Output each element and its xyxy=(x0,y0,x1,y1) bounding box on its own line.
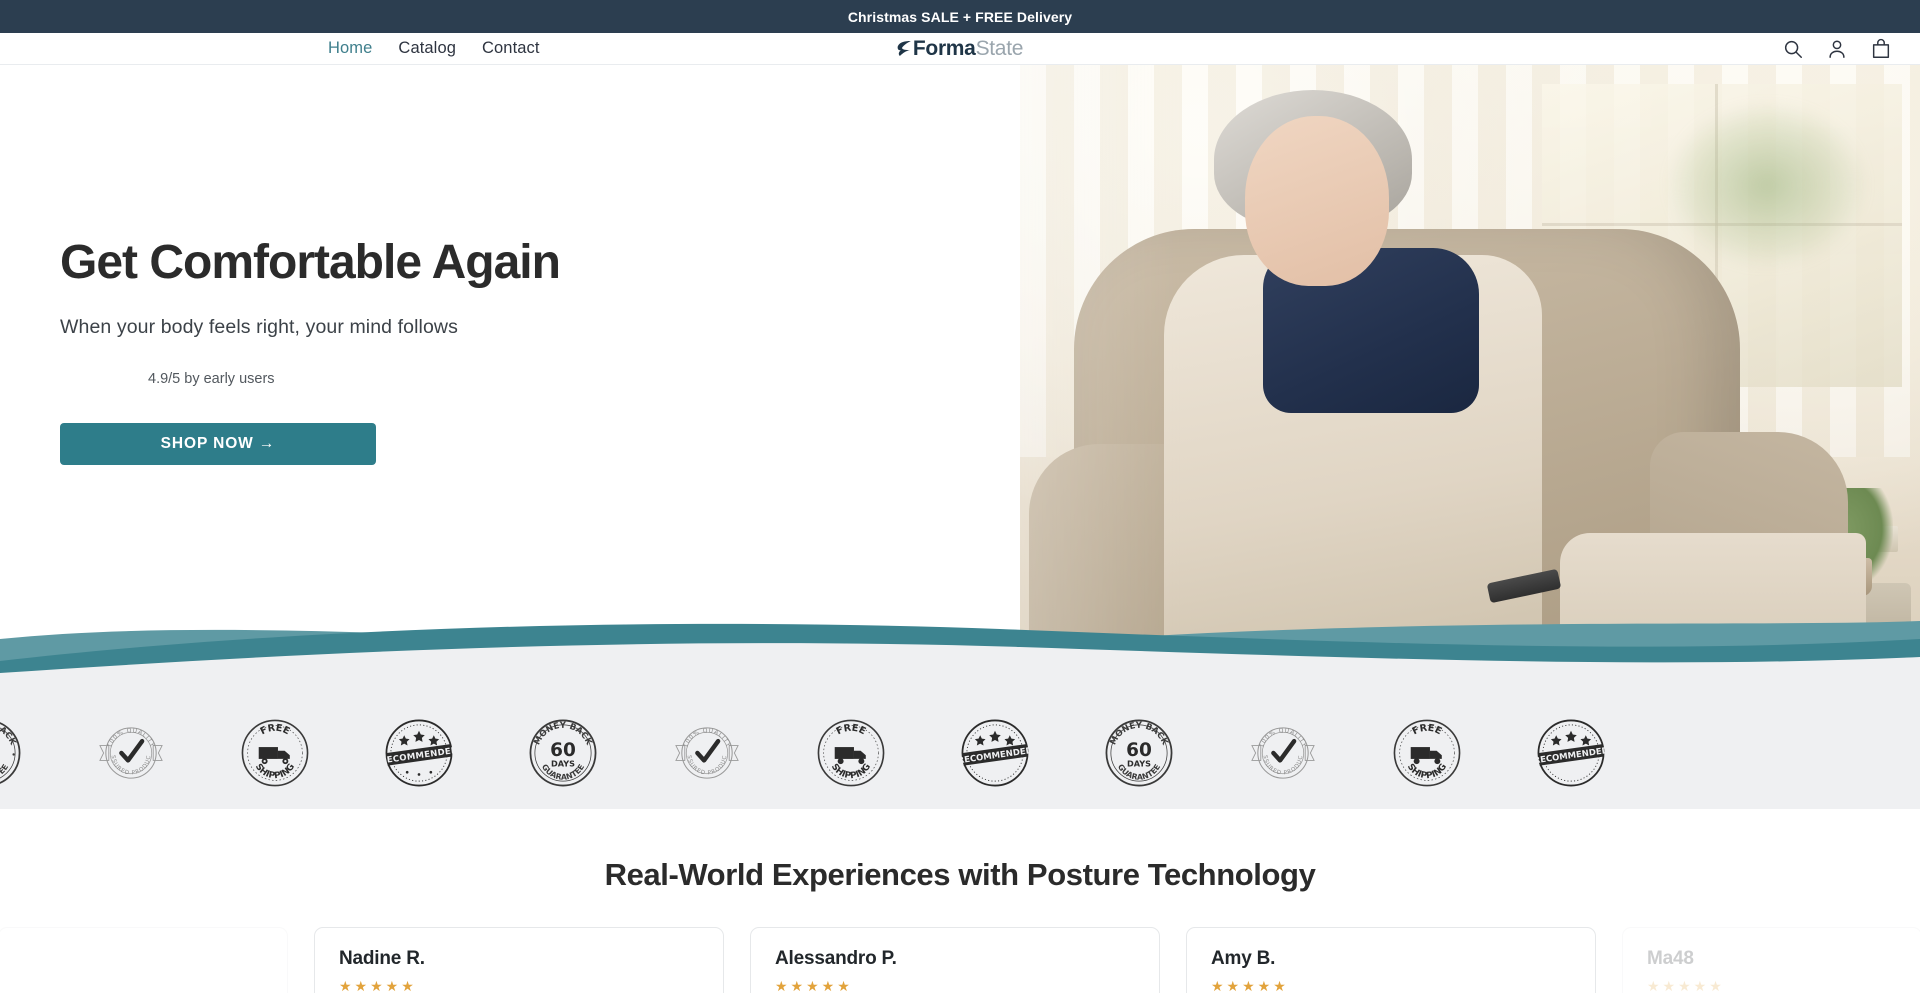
announcement-bar: Christmas SALE + FREE Delivery xyxy=(0,0,1920,33)
hero-rating-text: 4.9/5 by early users xyxy=(148,371,275,387)
svg-text:FREE: FREE xyxy=(835,722,868,737)
testimonial-stars: ★★★★★ xyxy=(1211,978,1571,993)
testimonial-card[interactable]: Ma48 ★★★★★ xyxy=(1622,927,1920,993)
svg-text:DAYS: DAYS xyxy=(551,758,575,768)
badge-money-back-icon: MONEY BACK GUARANTEE 60 DAYS xyxy=(0,716,24,790)
badge-recommended-icon: RECOMMENDED xyxy=(958,716,1032,790)
testimonial-card[interactable]: Nadine R. ★★★★★ xyxy=(314,927,724,993)
testimonial-card[interactable]: Alessandro P. ★★★★★ xyxy=(750,927,1160,993)
testimonials-carousel[interactable]: Nadine R. ★★★★★ Alessandro P. ★★★★★ Amy … xyxy=(0,927,1920,993)
testimonial-card[interactable] xyxy=(0,927,288,993)
hero-copy: Get Comfortable Again When your body fee… xyxy=(60,65,960,697)
testimonial-author: Amy B. xyxy=(1211,948,1571,970)
svg-text:ASSURED PRODUCT: ASSURED PRODUCT xyxy=(94,716,152,777)
svg-text:100% QUALITY: 100% QUALITY xyxy=(107,728,155,748)
hero-image xyxy=(1020,65,1920,697)
badge-recommended-icon: RECOMMENDED xyxy=(382,716,456,790)
svg-text:SHIPPING: SHIPPING xyxy=(1405,762,1449,781)
testimonial-author: Ma48 xyxy=(1647,948,1897,970)
badge-money-back-icon: MONEY BACK GUARANTEE 60 DAYS xyxy=(526,716,600,790)
site-logo[interactable]: Forma State xyxy=(897,37,1023,61)
badge-quality-icon: 100% QUALITY ASSURED PRODUCT xyxy=(1246,716,1320,790)
badge-quality-icon: 100% QUALITY ASSURED PRODUCT xyxy=(670,716,744,790)
logo-text-primary: Forma xyxy=(913,37,976,61)
logo-text-secondary: State xyxy=(976,37,1024,61)
testimonials-heading: Real-World Experiences with Posture Tech… xyxy=(0,857,1920,893)
svg-text:FREE: FREE xyxy=(259,722,292,737)
header-icon-group xyxy=(1782,38,1892,60)
nav-item-catalog[interactable]: Catalog xyxy=(398,39,456,58)
badge-money-back-icon: MONEY BACK GUARANTEE 60 DAYS xyxy=(1102,716,1176,790)
svg-text:SHIPPING: SHIPPING xyxy=(829,762,873,781)
hero-subtitle: When your body feels right, your mind fo… xyxy=(60,316,960,339)
testimonial-stars: ★★★★★ xyxy=(775,978,1135,993)
testimonials-section: Real-World Experiences with Posture Tech… xyxy=(0,809,1920,993)
svg-text:100% QUALITY: 100% QUALITY xyxy=(683,728,731,748)
announcement-text: Christmas SALE + FREE Delivery xyxy=(848,9,1072,25)
svg-text:100% QUALITY: 100% QUALITY xyxy=(1259,728,1307,748)
svg-text:GUARANTEE: GUARANTEE xyxy=(0,763,10,782)
testimonial-stars: ★★★★★ xyxy=(339,978,699,993)
badge-quality-icon: 100% QUALITY ASSURED PRODUCT xyxy=(94,716,168,790)
badge-free-shipping-icon: FREE SHIPPING xyxy=(238,716,312,790)
svg-text:FREE: FREE xyxy=(1411,722,1444,737)
search-icon[interactable] xyxy=(1782,38,1804,60)
hero-rating: 4.9/5 by early users xyxy=(60,371,960,387)
svg-text:ASSURED PRODUCT: ASSURED PRODUCT xyxy=(1246,716,1304,777)
shop-now-button[interactable]: SHOP NOW → xyxy=(60,423,376,465)
trust-badge-strip: MONEY BACK GUARANTEE 60 DAYS 100% Q xyxy=(0,697,1920,809)
testimonial-author: Alessandro P. xyxy=(775,948,1135,970)
badge-free-shipping-icon: FREE SHIPPING xyxy=(1390,716,1464,790)
nav-item-home[interactable]: Home xyxy=(328,39,372,58)
hero-title: Get Comfortable Again xyxy=(60,237,960,290)
cart-icon[interactable] xyxy=(1870,38,1892,60)
logo-mark-icon xyxy=(897,39,912,56)
testimonial-author: Nadine R. xyxy=(339,948,699,970)
site-header: Home Catalog Contact Forma State xyxy=(0,33,1920,65)
badge-recommended-icon: RECOMMENDED xyxy=(1534,716,1608,790)
badge-track: MONEY BACK GUARANTEE 60 DAYS 100% Q xyxy=(0,716,1608,790)
testimonial-card[interactable]: Amy B. ★★★★★ xyxy=(1186,927,1596,993)
testimonial-stars: ★★★★★ xyxy=(1647,978,1897,993)
main-navigation: Home Catalog Contact xyxy=(328,39,540,58)
account-icon[interactable] xyxy=(1826,38,1848,60)
hero-section: Get Comfortable Again When your body fee… xyxy=(0,65,1920,697)
svg-text:DAYS: DAYS xyxy=(1127,758,1151,768)
svg-text:SHIPPING: SHIPPING xyxy=(253,762,297,781)
badge-free-shipping-icon: FREE SHIPPING xyxy=(814,716,888,790)
svg-text:ASSURED PRODUCT: ASSURED PRODUCT xyxy=(670,716,728,777)
nav-item-contact[interactable]: Contact xyxy=(482,39,540,58)
